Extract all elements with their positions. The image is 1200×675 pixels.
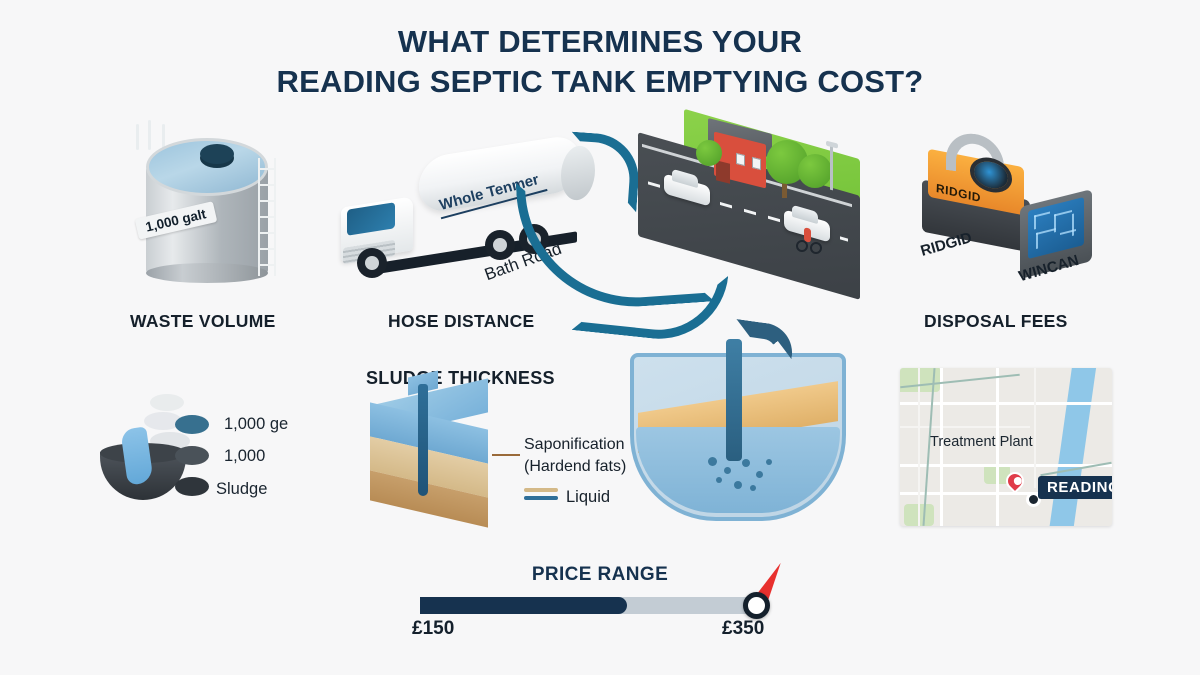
tank-vent-pipe-1	[136, 124, 139, 150]
bubble-8	[750, 485, 756, 491]
tree-trunk-1	[782, 182, 787, 198]
map-city-badge: READING	[1038, 476, 1112, 499]
price-range-fill	[420, 597, 627, 614]
bubble-5	[716, 477, 722, 483]
tank-ladder	[256, 158, 278, 276]
map-road-v-4	[918, 368, 920, 526]
sludge-thickness-illustration: Saponification (Hardend fats) Liquid	[360, 392, 575, 532]
hose-curve-tail	[572, 260, 728, 345]
infographic-canvas: WHAT DETERMINES YOUR READING SEPTIC TANK…	[0, 0, 1200, 675]
house-door	[716, 160, 730, 183]
bubble-1	[708, 457, 717, 466]
tank-cross-section-illustration	[630, 345, 860, 535]
legend-dot-2	[175, 477, 209, 496]
tree-canopy-3	[696, 140, 722, 166]
truck-wheel-front	[357, 248, 387, 278]
legend-liquid-label: Liquid	[566, 488, 610, 507]
saponification-line-2: (Hardend fats)	[524, 458, 626, 475]
measuring-probe	[418, 384, 428, 496]
swatch-fats	[524, 488, 558, 492]
legend-label-0: 1,000 ge	[224, 415, 288, 434]
price-range-max-label: £350	[722, 618, 764, 640]
callout-leader-line	[492, 454, 520, 456]
house-window-1	[736, 153, 745, 166]
street-lamp	[830, 146, 833, 191]
bubble-3	[742, 459, 750, 467]
swatch-liquid	[524, 496, 558, 500]
bubble-2	[724, 467, 731, 474]
map-road-v-3	[1034, 368, 1036, 488]
bubble-4	[756, 471, 763, 478]
map-river	[1047, 368, 1097, 526]
bubble-6	[734, 481, 742, 489]
price-range-min-label: £150	[412, 618, 454, 640]
tree-canopy-2	[798, 154, 832, 188]
page-title: WHAT DETERMINES YOUR READING SEPTIC TANK…	[0, 22, 1200, 101]
treatment-plant-map[interactable]: Treatment Plant READING	[900, 368, 1112, 526]
bubble-7	[766, 459, 772, 465]
house-window-2	[752, 157, 761, 170]
tank-vent-pipe-2	[148, 120, 151, 150]
tank-hatch	[200, 144, 234, 164]
title-line-2: READING SEPTIC TANK EMPTYING COST?	[0, 62, 1200, 102]
waste-volume-illustration: 1,000 galt	[118, 118, 308, 293]
legend-label-1: 1,000	[224, 447, 265, 466]
saponification-note: Saponification (Hardend fats)	[524, 434, 626, 477]
legend-dot-1	[175, 446, 209, 465]
caption-hose-distance: HOSE DISTANCE	[388, 311, 535, 332]
steam-puff-1	[150, 394, 184, 411]
price-range-thumb[interactable]	[743, 592, 770, 619]
price-range-title: PRICE RANGE	[0, 564, 1200, 586]
title-line-1: WHAT DETERMINES YOUR	[398, 24, 802, 59]
map-place-label: Treatment Plant	[930, 434, 1033, 450]
price-range-track[interactable]	[420, 597, 760, 614]
caption-waste-volume: WASTE VOLUME	[130, 311, 276, 332]
saponification-line-1: Saponification	[524, 436, 625, 453]
disposal-equipment-illustration: RIDGID RIDGID WINCAN	[912, 128, 1102, 293]
legend-label-2: Sludge	[216, 480, 267, 499]
bicycle	[796, 240, 822, 254]
suction-pipe	[726, 339, 742, 461]
legend-dot-0	[175, 415, 209, 434]
caption-disposal-fees: DISPOSAL FEES	[924, 311, 1068, 332]
